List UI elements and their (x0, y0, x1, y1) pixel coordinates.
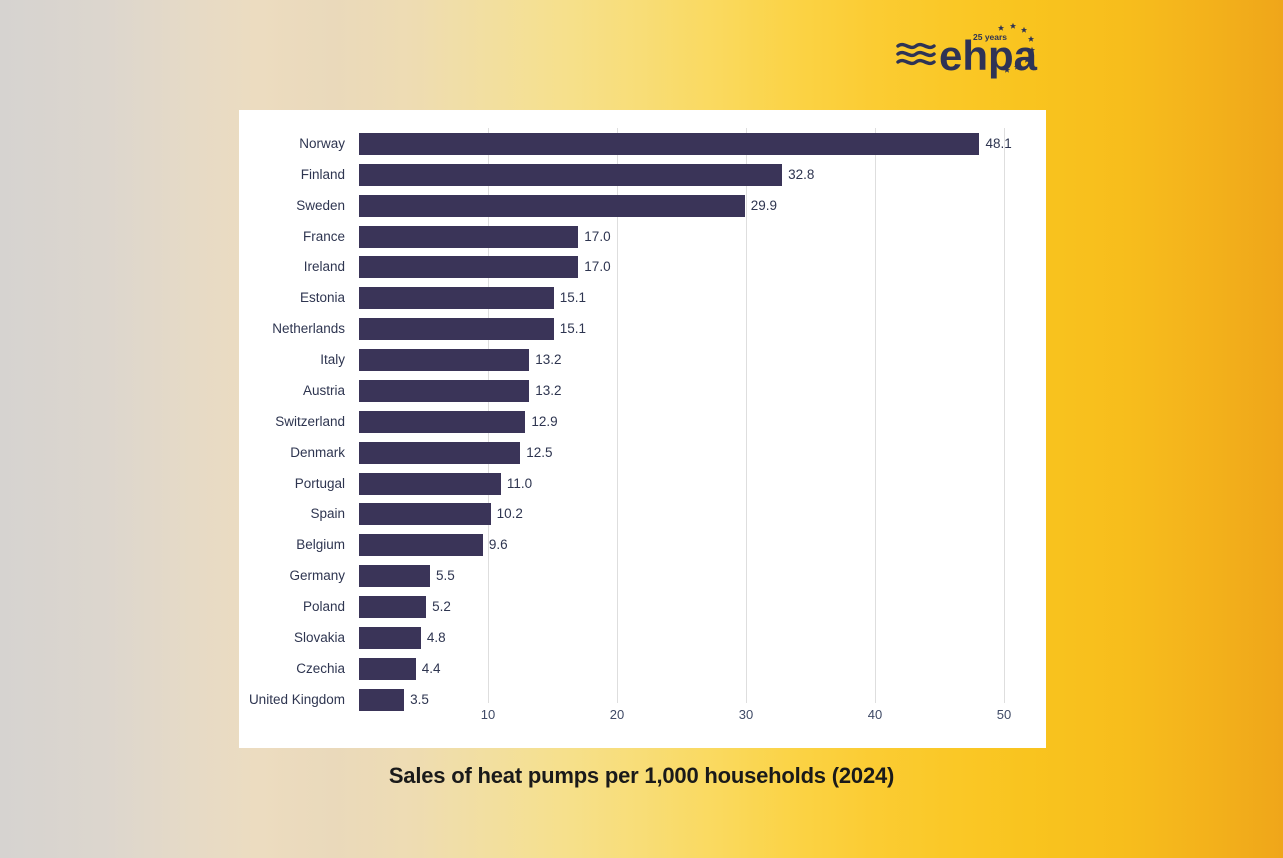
category-label: United Kingdom (239, 687, 345, 713)
bar (359, 596, 426, 618)
logo-anniversary-text: 25 years (973, 32, 1007, 42)
bar-row: Slovakia4.8 (239, 625, 1046, 651)
bar (359, 411, 525, 433)
bar-value-label: 5.5 (436, 563, 455, 589)
bar-row: Austria13.2 (239, 378, 1046, 404)
bar (359, 534, 483, 556)
bar-row: Portugal11.0 (239, 471, 1046, 497)
bar-value-label: 5.2 (432, 594, 451, 620)
bar (359, 689, 404, 711)
category-label: Slovakia (239, 625, 345, 651)
bar-row: Switzerland12.9 (239, 409, 1046, 435)
x-tick-label: 50 (997, 707, 1011, 722)
bar-value-label: 12.5 (526, 440, 552, 466)
bar-value-label: 15.1 (560, 285, 586, 311)
category-label: Finland (239, 162, 345, 188)
bar-row: Netherlands15.1 (239, 316, 1046, 342)
chart-card: Norway48.1Finland32.8Sweden29.9France17.… (239, 110, 1046, 748)
bar-row: United Kingdom3.5 (239, 687, 1046, 713)
bar-row: Belgium9.6 (239, 532, 1046, 558)
bar-value-label: 32.8 (788, 162, 814, 188)
bar (359, 658, 416, 680)
bar (359, 380, 529, 402)
x-tick-label: 20 (610, 707, 624, 722)
bar-chart-plot-area: Norway48.1Finland32.8Sweden29.9France17.… (239, 110, 1046, 748)
category-label: Poland (239, 594, 345, 620)
bar-row: Finland32.8 (239, 162, 1046, 188)
bar (359, 164, 782, 186)
bar-value-label: 48.1 (985, 131, 1011, 157)
bar-row: Spain10.2 (239, 501, 1046, 527)
bar-value-label: 13.2 (535, 378, 561, 404)
bar-value-label: 3.5 (410, 687, 429, 713)
category-label: Netherlands (239, 316, 345, 342)
bar-value-label: 11.0 (507, 471, 532, 497)
bar-value-label: 15.1 (560, 316, 586, 342)
bar (359, 287, 554, 309)
category-label: Portugal (239, 471, 345, 497)
bar (359, 349, 529, 371)
category-label: Sweden (239, 193, 345, 219)
bar-value-label: 29.9 (751, 193, 777, 219)
bar (359, 318, 554, 340)
bar (359, 627, 421, 649)
ehpa-logo: ehpa 25 years (895, 18, 1040, 80)
bar-value-label: 10.2 (497, 501, 523, 527)
bar-value-label: 12.9 (531, 409, 557, 435)
bar-row: Sweden29.9 (239, 193, 1046, 219)
x-tick-label: 30 (739, 707, 753, 722)
category-label: Spain (239, 501, 345, 527)
category-label: Ireland (239, 254, 345, 280)
bar (359, 195, 745, 217)
bar-row: Germany5.5 (239, 563, 1046, 589)
bar-row: Czechia4.4 (239, 656, 1046, 682)
bar-value-label: 17.0 (584, 224, 610, 250)
bar (359, 473, 501, 495)
category-label: Italy (239, 347, 345, 373)
bar (359, 503, 491, 525)
category-label: Belgium (239, 532, 345, 558)
bar-row: Italy13.2 (239, 347, 1046, 373)
bar-value-label: 13.2 (535, 347, 561, 373)
bar-row: Denmark12.5 (239, 440, 1046, 466)
category-label: Denmark (239, 440, 345, 466)
bar (359, 226, 578, 248)
bar-value-label: 17.0 (584, 254, 610, 280)
x-tick-label: 40 (868, 707, 882, 722)
bar-row: Ireland17.0 (239, 254, 1046, 280)
bar-value-label: 4.8 (427, 625, 446, 651)
category-label: Switzerland (239, 409, 345, 435)
bar-row: Norway48.1 (239, 131, 1046, 157)
wave-icon (898, 45, 934, 64)
bar (359, 442, 520, 464)
bar (359, 256, 578, 278)
bar-row: France17.0 (239, 224, 1046, 250)
bar-value-label: 9.6 (489, 532, 508, 558)
x-tick-label: 10 (481, 707, 495, 722)
chart-caption: Sales of heat pumps per 1,000 households… (0, 763, 1283, 789)
category-label: France (239, 224, 345, 250)
category-label: Austria (239, 378, 345, 404)
category-label: Estonia (239, 285, 345, 311)
bar-value-label: 4.4 (422, 656, 441, 682)
bar (359, 565, 430, 587)
bar-row: Estonia15.1 (239, 285, 1046, 311)
bar (359, 133, 979, 155)
category-label: Norway (239, 131, 345, 157)
category-label: Czechia (239, 656, 345, 682)
bar-row: Poland5.2 (239, 594, 1046, 620)
category-label: Germany (239, 563, 345, 589)
ehpa-logo-svg: ehpa 25 years (895, 18, 1040, 80)
